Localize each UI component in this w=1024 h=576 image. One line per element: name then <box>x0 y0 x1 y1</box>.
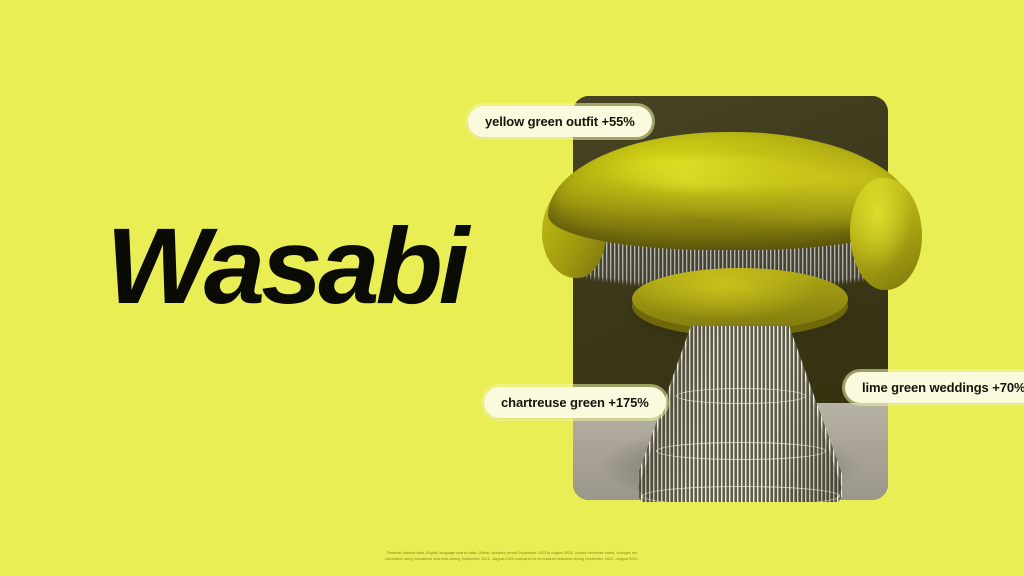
footnote-line-2: calculated using normalized searches dur… <box>0 557 1024 562</box>
chair-floor-shadow <box>598 427 863 492</box>
slide-canvas: Wasabi yellow green outfit +55% chartreu… <box>0 0 1024 576</box>
page-title: Wasabi <box>106 212 465 320</box>
pill-yellow-green-outfit[interactable]: yellow green outfit +55% <box>468 106 652 137</box>
pill-chartreuse-green[interactable]: chartreuse green +175% <box>484 387 666 418</box>
pill-lime-green-weddings[interactable]: lime green weddings +70% <box>845 372 1024 403</box>
product-image-panel <box>573 96 888 500</box>
footnote-disclaimer: Pinterest internal data, English languag… <box>0 551 1024 562</box>
panel-backdrop-wall <box>573 96 888 403</box>
